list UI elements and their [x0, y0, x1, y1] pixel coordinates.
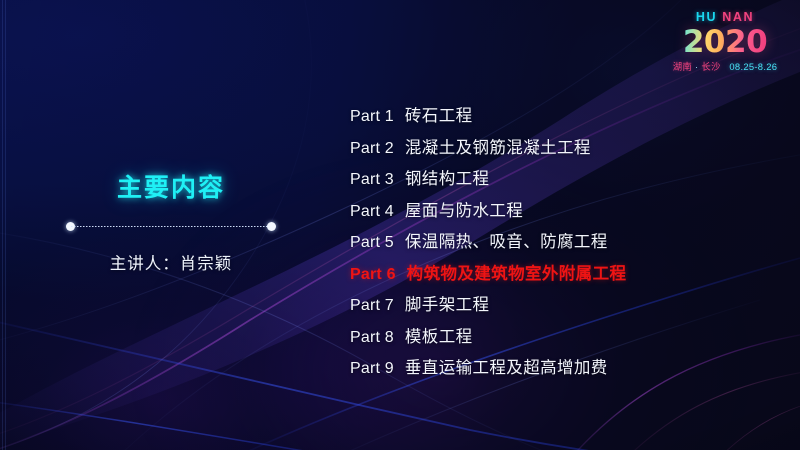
slide-title-block: 主要内容 主讲人：肖宗颖 [56, 168, 286, 274]
agenda-item[interactable]: Part 8模板工程 [350, 323, 770, 355]
agenda-item[interactable]: Part 4屋面与防水工程 [350, 197, 770, 229]
presentation-slide: HU NAN 2020 湖南 · 长沙 08.25-8.26 主要内容 主讲人：… [0, 0, 800, 450]
presenter-name: 主讲人：肖宗颖 [56, 250, 286, 274]
agenda-item-part: Part 2 [350, 140, 394, 158]
agenda-item-label: 钢结构工程 [405, 165, 490, 189]
divider-line [71, 226, 271, 227]
agenda-item-part: Part 5 [350, 234, 394, 252]
divider-dot-right [267, 222, 276, 231]
agenda-item-label: 模板工程 [405, 323, 473, 347]
agenda-item-part: Part 4 [350, 203, 394, 221]
agenda-item[interactable]: Part 3钢结构工程 [350, 165, 770, 197]
agenda-item-label: 垂直运输工程及超高增加费 [405, 354, 608, 378]
agenda-item[interactable]: Part 5保温隔热、吸音、防腐工程 [350, 228, 770, 260]
agenda-item[interactable]: Part 1砖石工程 [350, 102, 770, 134]
left-edge-accent-line-secondary [5, 0, 6, 450]
left-edge-accent-line [2, 0, 3, 450]
event-logo-hu: HU [696, 10, 717, 24]
agenda-item-part: Part 3 [350, 171, 394, 189]
agenda-item-label: 屋面与防水工程 [405, 197, 523, 221]
agenda-item-part: Part 6 [350, 266, 396, 284]
agenda-item-label: 混凝土及钢筋混凝土工程 [405, 134, 591, 158]
event-logo-subtitle: 湖南 · 长沙 08.25-8.26 [664, 62, 786, 71]
event-logo-city: 长沙 [701, 61, 720, 72]
agenda-list: Part 1砖石工程Part 2混凝土及钢筋混凝土工程Part 3钢结构工程Pa… [350, 102, 770, 386]
divider [66, 222, 276, 231]
agenda-item[interactable]: Part 9垂直运输工程及超高增加费 [350, 354, 770, 386]
event-logo-province: 湖南 [673, 61, 692, 72]
agenda-item[interactable]: Part 2混凝土及钢筋混凝土工程 [350, 134, 770, 166]
agenda-item-label: 构筑物及建筑物室外附属工程 [407, 260, 627, 284]
agenda-item[interactable]: Part 6构筑物及建筑物室外附属工程 [350, 260, 770, 292]
agenda-item-part: Part 9 [350, 360, 394, 378]
agenda-item-part: Part 8 [350, 329, 394, 347]
agenda-item-part: Part 1 [350, 108, 394, 126]
event-logo: HU NAN 2020 湖南 · 长沙 08.25-8.26 [664, 11, 786, 71]
agenda-item-part: Part 7 [350, 297, 394, 315]
event-logo-nan: NAN [722, 10, 754, 24]
page-title: 主要内容 [56, 168, 286, 204]
event-logo-separator: · [695, 61, 698, 72]
event-logo-year: 2020 [664, 27, 786, 58]
agenda-item-label: 保温隔热、吸音、防腐工程 [405, 228, 608, 252]
agenda-item[interactable]: Part 7脚手架工程 [350, 291, 770, 323]
agenda-item-label: 砖石工程 [405, 102, 473, 126]
event-logo-name: HU NAN [664, 11, 786, 24]
event-logo-dates: 08.25-8.26 [729, 61, 777, 72]
agenda-item-label: 脚手架工程 [405, 291, 490, 315]
